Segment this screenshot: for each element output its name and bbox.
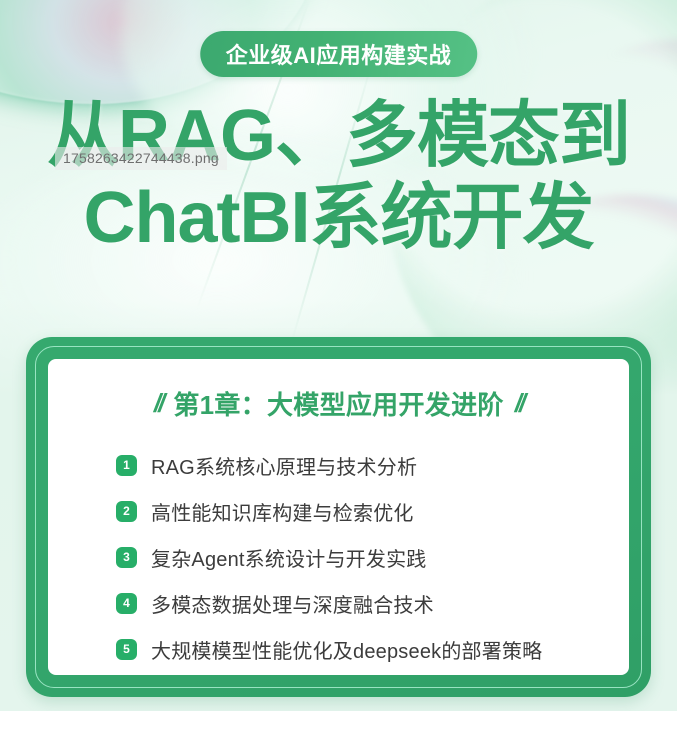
list-item: 5 大规模模型性能优化及deepseek的部署策略 <box>116 626 609 672</box>
category-badge: 企业级AI应用构建实战 <box>200 31 478 77</box>
topic-label: 复杂Agent系统设计与开发实践 <box>151 543 426 572</box>
topic-number-badge: 3 <box>116 547 137 568</box>
topic-number-badge: 2 <box>116 501 137 522</box>
chapter-card-body: // 第1章：大模型应用开发进阶 // 1 RAG系统核心原理与技术分析 2 高… <box>48 359 629 675</box>
page-title: 从RAG、多模态到 ChatBI系统开发 <box>0 95 677 259</box>
topic-list: 1 RAG系统核心原理与技术分析 2 高性能知识库构建与检索优化 3 复杂Age… <box>68 442 609 672</box>
page-bottom-strip <box>0 711 677 733</box>
chapter-card: // 第1章：大模型应用开发进阶 // 1 RAG系统核心原理与技术分析 2 高… <box>26 337 651 697</box>
slashes-left-icon: // <box>154 388 162 419</box>
page-title-line-2: ChatBI系统开发 <box>0 177 677 259</box>
topic-number-badge: 1 <box>116 455 137 476</box>
chapter-heading: // 第1章：大模型应用开发进阶 // <box>68 385 609 422</box>
chapter-heading-text: 第1章：大模型应用开发进阶 <box>173 385 503 422</box>
list-item: 2 高性能知识库构建与检索优化 <box>116 488 609 534</box>
list-item: 1 RAG系统核心原理与技术分析 <box>116 442 609 488</box>
topic-number-badge: 5 <box>116 639 137 660</box>
topic-label: 大规模模型性能优化及deepseek的部署策略 <box>151 635 542 664</box>
promo-poster: 企业级AI应用构建实战 从RAG、多模态到 ChatBI系统开发 1758263… <box>0 0 677 733</box>
topic-label: 多模态数据处理与深度融合技术 <box>151 589 434 618</box>
topic-label: RAG系统核心原理与技术分析 <box>151 451 417 480</box>
topic-number-badge: 4 <box>116 593 137 614</box>
slashes-right-icon: // <box>515 388 523 419</box>
list-item: 4 多模态数据处理与深度融合技术 <box>116 580 609 626</box>
list-item: 3 复杂Agent系统设计与开发实践 <box>116 534 609 580</box>
watermark-filename: 1758263422744438.png <box>55 147 227 170</box>
topic-label: 高性能知识库构建与检索优化 <box>151 497 414 526</box>
